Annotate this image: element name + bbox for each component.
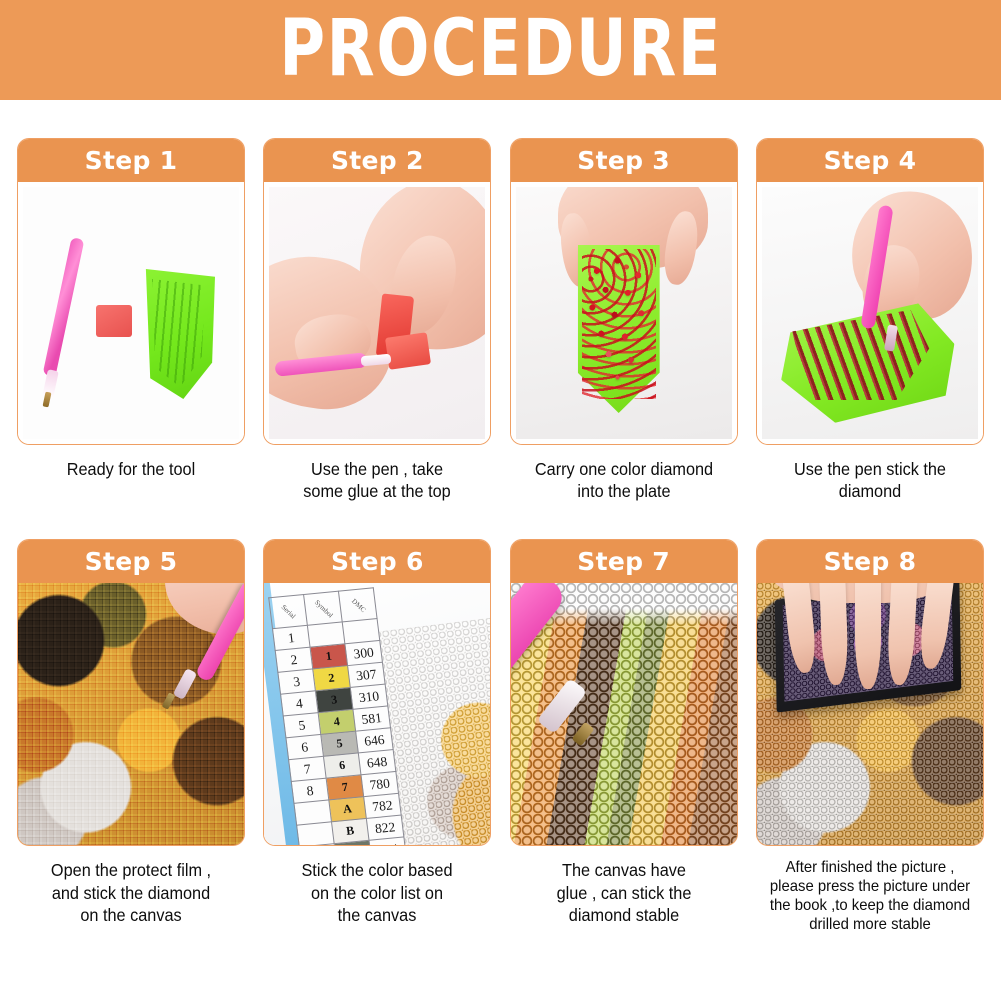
page-title: PROCEDURE — [279, 10, 722, 88]
caption-line: on the color list on — [267, 882, 488, 904]
pen-picking-diamonds-tray-photo — [762, 187, 978, 439]
caption-line: some glue at the top — [267, 480, 488, 502]
finger-icon — [819, 583, 849, 685]
step-header-8: Step 8 — [757, 540, 983, 583]
glue-pad-icon — [96, 305, 132, 337]
finger-icon — [855, 583, 881, 689]
step-header-5: Step 5 — [18, 540, 244, 583]
caption-line: Carry one color diamond — [513, 458, 734, 480]
step-caption-7: The canvas have glue , can stick the dia… — [513, 859, 734, 926]
page-banner: PROCEDURE — [0, 0, 1001, 100]
step-cell-6: Step 6 Serial Symbol DMC — [263, 539, 491, 935]
step-image-3 — [511, 182, 737, 444]
step-caption-6: Stick the color based on the color list … — [267, 859, 488, 926]
macro-drills-pen-photo — [511, 583, 737, 845]
caption-line: Open the protect film , — [20, 859, 241, 881]
caption-line: into the plate — [513, 480, 734, 502]
finger-icon — [917, 583, 955, 670]
legend-table-head: Serial Symbol DMC — [269, 588, 377, 629]
step-image-2 — [264, 182, 490, 444]
canvas-mosaic-pen-photo — [18, 583, 244, 845]
step-image-5 — [18, 583, 244, 845]
step-card-3[interactable]: Step 3 — [510, 138, 738, 445]
step-card-8[interactable]: Step 8 — [756, 539, 984, 846]
caption-line: drilled more stable — [759, 916, 980, 935]
step-header-3: Step 3 — [511, 139, 737, 182]
caption-line: on the canvas — [20, 904, 241, 926]
step-image-1 — [18, 182, 244, 444]
caption-line: After finished the picture , — [759, 859, 980, 878]
caption-line: The canvas have — [513, 859, 734, 881]
step-card-1[interactable]: Step 1 — [17, 138, 245, 445]
caption-line: glue , can stick the — [513, 882, 734, 904]
step-image-7 — [511, 583, 737, 845]
hands-pen-glue-photo — [269, 187, 485, 439]
steps-row-2: Step 5 Open the protect film , and stick… — [0, 539, 1001, 935]
finger-icon — [782, 583, 819, 674]
steps-grid: Step 1 Ready for the tool Step 2 — [0, 138, 1001, 935]
step-card-4[interactable]: Step 4 — [756, 138, 984, 445]
caption-line: Use the pen stick the — [759, 458, 980, 480]
tools-pen-glue-tray-photo — [23, 187, 239, 439]
step-caption-1: Ready for the tool — [20, 458, 241, 480]
step-image-4 — [757, 182, 983, 444]
step-caption-3: Carry one color diamond into the plate — [513, 458, 734, 502]
step-header-1: Step 1 — [18, 139, 244, 182]
hand-tray-red-diamonds-photo — [516, 187, 732, 439]
step-caption-2: Use the pen , take some glue at the top — [267, 458, 488, 502]
step-caption-4: Use the pen stick the diamond — [759, 458, 980, 502]
caption-line: diamond stable — [513, 904, 734, 926]
caption-line: Use the pen , take — [267, 458, 488, 480]
step-cell-7: Step 7 The canvas have glue , can stick … — [510, 539, 738, 935]
caption-line: and stick the diamond — [20, 882, 241, 904]
step-header-2: Step 2 — [264, 139, 490, 182]
legend-header-row: Serial Symbol DMC — [269, 588, 377, 629]
step-cell-5: Step 5 Open the protect film , and stick… — [17, 539, 245, 935]
legend-serial-cell — [297, 822, 335, 845]
step-card-7[interactable]: Step 7 — [510, 539, 738, 846]
pink-pen-icon — [43, 237, 85, 377]
step-header-4: Step 4 — [757, 139, 983, 182]
finger-icon — [886, 583, 918, 686]
caption-line: the canvas — [267, 904, 488, 926]
step-card-2[interactable]: Step 2 — [263, 138, 491, 445]
color-legend-chart-photo: Serial Symbol DMC 1213003230743310545816… — [264, 583, 490, 845]
caption-line: diamond — [759, 480, 980, 502]
step-image-6: Serial Symbol DMC 1213003230743310545816… — [264, 583, 490, 845]
step-cell-3: Step 3 Carry one color diamond into the … — [510, 138, 738, 502]
steps-row-1: Step 1 Ready for the tool Step 2 — [0, 138, 1001, 502]
caption-line: the book ,to keep the diamond — [759, 897, 980, 916]
step-cell-2: Step 2 Use the pen , take — [263, 138, 491, 502]
step-image-8 — [757, 583, 983, 845]
step-cell-8: Step 8 — [756, 539, 984, 935]
step-cell-4: Step 4 Use the pen stick the diamond — [756, 138, 984, 502]
red-diamonds-highlight-icon — [582, 249, 656, 395]
caption-line: please press the picture under — [759, 878, 980, 897]
step-card-6[interactable]: Step 6 Serial Symbol DMC — [263, 539, 491, 846]
caption-line: Stick the color based — [267, 859, 488, 881]
step-card-5[interactable]: Step 5 — [17, 539, 245, 846]
step-header-7: Step 7 — [511, 540, 737, 583]
fingers-group-icon — [785, 583, 955, 689]
step-header-6: Step 6 — [264, 540, 490, 583]
glue-block-lower-icon — [385, 332, 431, 370]
hands-pressing-book-photo — [757, 583, 983, 845]
step-caption-8: After finished the picture , please pres… — [759, 859, 980, 935]
step-cell-1: Step 1 Ready for the tool — [17, 138, 245, 502]
step-caption-5: Open the protect film , and stick the di… — [20, 859, 241, 926]
